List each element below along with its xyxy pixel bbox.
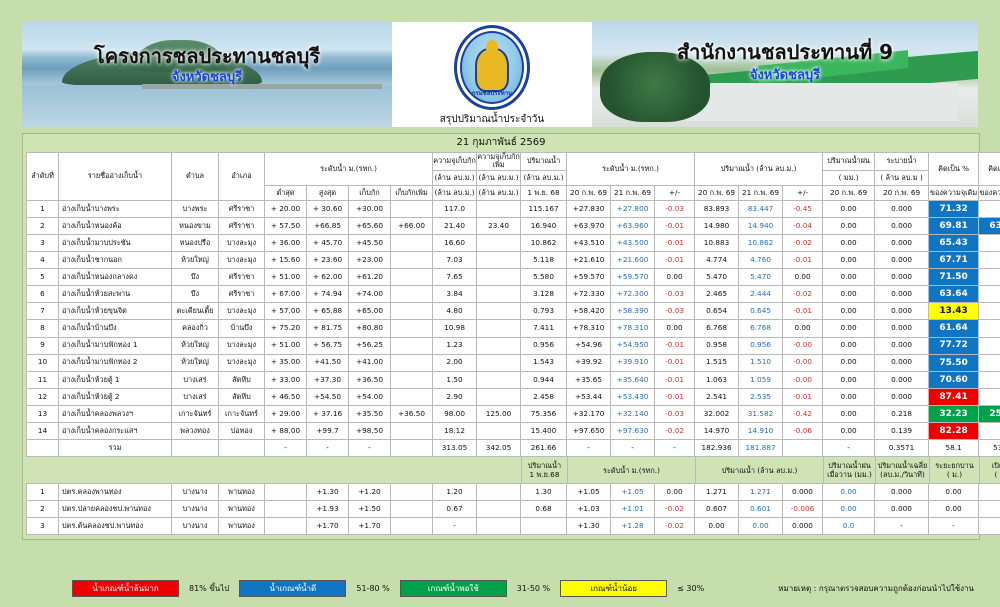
cell-rain: 0.00: [823, 234, 875, 251]
th-cap-extra-unit2: (ล้าน ลบ.ม.): [477, 185, 521, 200]
legend-chip-1: น้ำเกณฑ์น้ำดี: [239, 580, 346, 597]
table-row: 6อ่างเก็บน้ำห้วยสะพานบึงศรีราชา+ 67.00+ …: [27, 286, 1000, 303]
cell-lmin: + 33.00: [265, 371, 307, 388]
cell-tambon: บางนาง: [172, 518, 219, 535]
cell-capx: [477, 337, 521, 354]
cell-lmin: + 57.00: [265, 303, 307, 320]
cell-p2: [979, 337, 1000, 354]
cell-avg: 0.000: [875, 501, 929, 518]
cell-vdiff: -0.01: [783, 303, 823, 320]
cell-name: อ่างเก็บน้ำห้วยสะพาน: [59, 286, 172, 303]
cell-drain: 0.000: [875, 337, 929, 354]
cell-lmin: + 51.00: [265, 337, 307, 354]
gate-th-group-6: เปิดบาน( ชม.): [979, 457, 1000, 483]
th-drain-unit: ( ล้าน ลบ.ม ): [875, 170, 929, 185]
cell-capx: [477, 252, 521, 269]
total-rain: -: [823, 440, 875, 457]
th-level2-d1: 20 ก.พ. 69: [567, 185, 611, 200]
cell-tambon: คลองกิ่ว: [172, 320, 219, 337]
cell-l2: +35.640: [611, 371, 655, 388]
cell-lmin: + 51.00: [265, 269, 307, 286]
cell-v2: 1.271: [739, 484, 783, 501]
table-row: 13อ่างเก็บน้ำคลองพลวงฯเกาะจันทร์เกาะจันท…: [27, 405, 1000, 422]
cell-cap: 98.00: [433, 405, 477, 422]
cell-tambon: บางนาง: [172, 484, 219, 501]
th-vol-nov: ปริมาณน้ำ: [521, 153, 567, 171]
cell-lmax: +1.93: [307, 501, 349, 518]
cell-tambon: เกาะจันทร์: [172, 405, 219, 422]
th-level-store: เก็บกัก: [349, 185, 391, 200]
cell-no: 10: [27, 354, 59, 371]
cell-vdiff: 0.000: [783, 484, 823, 501]
report-date: 21 กุมภาพันธ์ 2569: [23, 134, 979, 152]
table-row: 9อ่างเก็บน้ำมาบฟักทอง 1ห้วยใหญ่บางละมุง+…: [27, 337, 1000, 354]
cell-drain: 0.000: [875, 320, 929, 337]
cell-vnov: 16.940: [521, 217, 567, 234]
cell-lmin: + 29.00: [265, 405, 307, 422]
table-total-row: รวม---313.05342.05261.66---182.936181.88…: [27, 440, 1000, 457]
gate-row: 1ปตร.คลองพานทองบางนางพานทอง+1.30+1.201.2…: [27, 484, 1000, 501]
cell-lmax: + 74.94: [307, 286, 349, 303]
legend-range-1: 51-80 %: [356, 584, 389, 593]
cell-vnov: [521, 518, 567, 535]
cell-capx: [477, 286, 521, 303]
cell-tambon: หนองขาม: [172, 217, 219, 234]
cell-name: อ่างเก็บน้ำคลองกระแสฯ: [59, 423, 172, 440]
cell-capx: [477, 269, 521, 286]
cell-vnov: 3.128: [521, 286, 567, 303]
cell-l2: +53.430: [611, 388, 655, 405]
cell-v1: 0.958: [695, 337, 739, 354]
gate-table-body: 1ปตร.คลองพานทองบางนางพานทอง+1.30+1.201.2…: [27, 484, 1000, 535]
cell-lextra: [391, 286, 433, 303]
cell-amphoe: ศรีราชา: [219, 217, 265, 234]
cell-lmin: + 57.50: [265, 217, 307, 234]
cell-name: ปตร.คลองพานทอง: [59, 484, 172, 501]
total-tambon: [172, 440, 219, 457]
cell-name: อ่างเก็บน้ำห้วยตู้ 1: [59, 371, 172, 388]
cell-l1: +72.330: [567, 286, 611, 303]
total-l1: -: [567, 440, 611, 457]
cell-v2: 1.059: [739, 371, 783, 388]
cell-ldiff: -0.02: [655, 518, 695, 535]
seal-label: กรมชลประทาน: [462, 88, 522, 98]
cell-open: -: [979, 518, 1000, 535]
cell-vdiff: 0.000: [783, 518, 823, 535]
cell-vnov: 1.543: [521, 354, 567, 371]
cell-cap: 7.03: [433, 252, 477, 269]
cell-vdiff: -0.01: [783, 388, 823, 405]
cell-vnov: 75.356: [521, 405, 567, 422]
cell-lstore: +61.20: [349, 269, 391, 286]
cell-l2: +97.630: [611, 423, 655, 440]
cell-p2: 63.85: [979, 217, 1000, 234]
cell-lmin: [265, 484, 307, 501]
cell-rain: 0.00: [823, 405, 875, 422]
cell-lstore: +74.00: [349, 286, 391, 303]
cell-ldiff: -0.01: [655, 371, 695, 388]
cell-amphoe: บางละมุง: [219, 337, 265, 354]
cell-p1: 67.71: [929, 252, 979, 269]
cell-name: อ่างเก็บน้ำหนองค้อ: [59, 217, 172, 234]
cell-lextra: [391, 518, 433, 535]
cell-l2: +43.500: [611, 234, 655, 251]
cell-p2: [979, 200, 1000, 217]
cell-p2: [979, 269, 1000, 286]
th-cap-extra-unit: (ล้าน ลบ.ม.): [477, 170, 521, 185]
th-vol2-group: ปริมาณน้ำ (ล้าน ลบ.ม.): [695, 153, 823, 186]
cell-p2: [979, 286, 1000, 303]
cell-lextra: [391, 423, 433, 440]
cell-lmin: + 36.00: [265, 234, 307, 251]
cell-l1: +35.65: [567, 371, 611, 388]
cell-lextra: [391, 252, 433, 269]
footer-note: หมายเหตุ : กรุณาตรวจสอบความถูกต้องก่อนนำ…: [778, 582, 978, 595]
gate-th-group-1: ระดับน้ำ ม.(รทก.): [567, 457, 696, 483]
cell-tambon: ห้วยใหญ่: [172, 252, 219, 269]
cell-l2: +78.310: [611, 320, 655, 337]
cell-v1: 1.271: [695, 484, 739, 501]
cell-no: 9: [27, 337, 59, 354]
cell-l2: +63.960: [611, 217, 655, 234]
cell-cap: 117.0: [433, 200, 477, 217]
cell-vnov: 0.68: [521, 501, 567, 518]
cell-l2: +32.140: [611, 405, 655, 422]
cell-no: 12: [27, 388, 59, 405]
cell-lextra: [391, 303, 433, 320]
cell-name: อ่างเก็บน้ำมาบฟักทอง 1: [59, 337, 172, 354]
table-row: 11อ่างเก็บน้ำห้วยตู้ 1บางเสร่สัตหีบ+ 33.…: [27, 371, 1000, 388]
cell-v1: 6.768: [695, 320, 739, 337]
cell-ldiff: -0.01: [655, 234, 695, 251]
cell-l2: +1.01: [611, 501, 655, 518]
cell-no: 2: [27, 501, 59, 518]
th-cap-store-unit2: (ล้าน ลบ.ม.): [433, 185, 477, 200]
cell-amphoe: ศรีราชา: [219, 286, 265, 303]
legend-range-3: ≤ 30%: [677, 584, 704, 593]
cell-lextra: [391, 320, 433, 337]
total-v2: 181.887: [739, 440, 783, 457]
cell-ldiff: -0.01: [655, 388, 695, 405]
total-vdiff: [783, 440, 823, 457]
cell-l1: +1.30: [567, 518, 611, 535]
th-no: ลำดับที่: [27, 153, 59, 201]
th-vol-nov-date: 1 พ.ย. 68: [521, 185, 567, 200]
cell-v1: 0.00: [695, 518, 739, 535]
cell-vdiff: -0.006: [783, 501, 823, 518]
cell-v1: 83.893: [695, 200, 739, 217]
cell-p2: [979, 303, 1000, 320]
total-name: รวม: [59, 440, 172, 457]
cell-v1: 1.515: [695, 354, 739, 371]
cell-lstore: +41.00: [349, 354, 391, 371]
cell-amphoe: บ้านบึง: [219, 320, 265, 337]
cell-ldiff: 0.00: [655, 269, 695, 286]
cell-vdiff: -0.02: [783, 234, 823, 251]
cell-lstore: +98.50: [349, 423, 391, 440]
banner-left-subtitle: จังหวัดชลบุรี: [22, 66, 392, 87]
cell-p2: [979, 371, 1000, 388]
cell-amphoe: บางละมุง: [219, 234, 265, 251]
th-rain: ปริมาณน้ำฝน: [823, 153, 875, 171]
table-row: 10อ่างเก็บน้ำมาบฟักทอง 2ห้วยใหญ่บางละมุง…: [27, 354, 1000, 371]
cell-lmin: + 75.20: [265, 320, 307, 337]
cell-ldiff: -0.01: [655, 337, 695, 354]
cell-capx: [477, 501, 521, 518]
cell-rain: 0.00: [823, 337, 875, 354]
cell-capx: 125.00: [477, 405, 521, 422]
cell-name: อ่างเก็บน้ำห้วยตู้ 2: [59, 388, 172, 405]
th-cap-extra: ความจุเก็บกักเพิ่ม: [477, 153, 521, 171]
cell-p1: 77.72: [929, 337, 979, 354]
cell-open: 0: [979, 501, 1000, 518]
cell-drain: 0.000: [875, 217, 929, 234]
gate-th-group-5: ระยะยกบาน( ม.): [929, 457, 980, 483]
cell-drain: 0.000: [875, 388, 929, 405]
cell-capx: [477, 200, 521, 217]
cell-v1: 1.063: [695, 371, 739, 388]
cell-no: 1: [27, 484, 59, 501]
cell-lmin: + 20.00: [265, 200, 307, 217]
cell-rain: 0.00: [823, 423, 875, 440]
cell-lextra: [391, 200, 433, 217]
cell-v2: 31.582: [739, 405, 783, 422]
cell-rain: 0.00: [823, 286, 875, 303]
cell-v1: 14.980: [695, 217, 739, 234]
cell-rain: 0.00: [823, 320, 875, 337]
total-l2: -: [611, 440, 655, 457]
cell-capx: [477, 234, 521, 251]
total-drain: 0.3571: [875, 440, 929, 457]
th-cap-store: ความจุเก็บกัก: [433, 153, 477, 171]
cell-amphoe: พานทอง: [219, 518, 265, 535]
cell-lmax: + 62.00: [307, 269, 349, 286]
th-level2-d2: 21 ก.พ. 69: [611, 185, 655, 200]
th-pct2-sub: ของความจุใหม่: [979, 185, 1000, 200]
cell-tambon: บางเสร่: [172, 371, 219, 388]
cell-lstore: +1.20: [349, 484, 391, 501]
cell-avg: 0.000: [875, 484, 929, 501]
cell-depth: 0.00: [929, 484, 979, 501]
th-vol2-diff: +/-: [783, 185, 823, 200]
cell-l1: +1.03: [567, 501, 611, 518]
cell-cap: 18.12: [433, 423, 477, 440]
total-p2: 53.18: [979, 440, 1000, 457]
cell-vnov: 7.411: [521, 320, 567, 337]
banner-right-photo: สำนักงานชลประทานที่ 9 จังหวัดชลบุรี: [592, 22, 978, 127]
cell-cap: 2.00: [433, 354, 477, 371]
cell-rain: 0.00: [823, 200, 875, 217]
th-level-group: ระดับน้ำ ม.(รทก.): [265, 153, 433, 186]
cell-tambon: บึง: [172, 286, 219, 303]
lake-water: [22, 85, 392, 127]
total-cap: 313.05: [433, 440, 477, 457]
table-row: 12อ่างเก็บน้ำห้วยตู้ 2บางเสร่สัตหีบ+ 46.…: [27, 388, 1000, 405]
th-level-store-extra: เก็บกักเพิ่ม: [391, 185, 433, 200]
cell-v2: 6.768: [739, 320, 783, 337]
cell-no: 3: [27, 234, 59, 251]
cell-name: อ่างเก็บน้ำมาบประชัน: [59, 234, 172, 251]
cell-drain: 0.000: [875, 269, 929, 286]
cell-depth: 0.00: [929, 501, 979, 518]
cell-l1: +53.44: [567, 388, 611, 405]
cell-lstore: +36.50: [349, 371, 391, 388]
cell-rain: 0.00: [823, 371, 875, 388]
cell-v1: 5.470: [695, 269, 739, 286]
cell-drain: 0.000: [875, 234, 929, 251]
cell-vdiff: 0.00: [783, 269, 823, 286]
cell-no: 6: [27, 286, 59, 303]
cell-rain: 0.00: [823, 388, 875, 405]
cell-l1: +59.570: [567, 269, 611, 286]
cell-rain: 0.00: [823, 217, 875, 234]
cell-v1: 0.607: [695, 501, 739, 518]
cell-v2: 83.447: [739, 200, 783, 217]
legend-chip-0: น้ำเกณฑ์น้ำล้นมาก: [72, 580, 179, 597]
cell-ldiff: -0.03: [655, 200, 695, 217]
cell-p1: 32.23: [929, 405, 979, 422]
cell-tambon: ตะเคียนเตี้ย: [172, 303, 219, 320]
cell-amphoe: บางละมุง: [219, 303, 265, 320]
cell-lmax: +1.70: [307, 518, 349, 535]
cell-vnov: 15.400: [521, 423, 567, 440]
cell-name: อ่างเก็บน้ำคลองพลวงฯ: [59, 405, 172, 422]
cell-ldiff: -0.03: [655, 286, 695, 303]
cell-drain: 0.000: [875, 286, 929, 303]
cell-v1: 32.002: [695, 405, 739, 422]
cell-p1: 13.43: [929, 303, 979, 320]
cell-vdiff: -0.00: [783, 354, 823, 371]
legend-chip-2: เกณฑ์น้ำพอใช้: [400, 580, 507, 597]
cell-v2: 0.956: [739, 337, 783, 354]
cell-p2: [979, 388, 1000, 405]
total-lmin: -: [265, 440, 307, 457]
cell-lstore: +56.25: [349, 337, 391, 354]
cell-lmin: + 35.00: [265, 354, 307, 371]
cell-depth: -: [929, 518, 979, 535]
cell-p2: [979, 234, 1000, 251]
cell-amphoe: สัตหีบ: [219, 371, 265, 388]
cell-no: 2: [27, 217, 59, 234]
legend-range-0: 81% ขึ้นไป: [189, 582, 229, 595]
th-pct1-sub: ของความจุเดิม: [929, 185, 979, 200]
cell-lextra: +36.50: [391, 405, 433, 422]
table-row: 5อ่างเก็บน้ำหนองกลางดงบึงศรีราชา+ 51.00+…: [27, 269, 1000, 286]
cell-name: อ่างเก็บน้ำหนองกลางดง: [59, 269, 172, 286]
cell-drain: 0.218: [875, 405, 929, 422]
total-lstore: -: [349, 440, 391, 457]
cell-lmax: + 30.60: [307, 200, 349, 217]
cell-vdiff: -0.01: [783, 252, 823, 269]
cell-v2: 2.444: [739, 286, 783, 303]
cell-rain: 0.00: [823, 484, 875, 501]
cell-lmax: +41.50: [307, 354, 349, 371]
th-drain: ระบายน้ำ: [875, 153, 929, 171]
table-header-row-1: ลำดับที่ รายชื่ออ่างเก็บน้ำ ตำบล อำเภอ ร…: [27, 153, 1000, 171]
cell-v2: 0.00: [739, 518, 783, 535]
cell-cap: 4.80: [433, 303, 477, 320]
cell-l1: +97.650: [567, 423, 611, 440]
cell-l2: +1.05: [611, 484, 655, 501]
cell-p1: 61.64: [929, 320, 979, 337]
total-capx: 342.05: [477, 440, 521, 457]
cell-name: ปตร.ต้นคลองชป.พานทอง: [59, 518, 172, 535]
th-level-min: ต่ำสุด: [265, 185, 307, 200]
cell-cap: 1.23: [433, 337, 477, 354]
cell-lmin: [265, 518, 307, 535]
cell-cap: 1.20: [433, 484, 477, 501]
cell-amphoe: ศรีราชา: [219, 200, 265, 217]
cell-lextra: [391, 234, 433, 251]
cell-no: 5: [27, 269, 59, 286]
cell-lmax: + 56.75: [307, 337, 349, 354]
reservoir-table-body: 1อ่างเก็บน้ำบางพระบางพระศรีราชา+ 20.00+ …: [27, 200, 1000, 456]
legend-range-2: 31-50 %: [517, 584, 550, 593]
th-cap-store-unit: (ล้าน ลบ.ม.): [433, 170, 477, 185]
cell-lstore: +23.00: [349, 252, 391, 269]
cell-p1: 69.81: [929, 217, 979, 234]
cell-lstore: +35.50: [349, 405, 391, 422]
total-ldiff: -: [655, 440, 695, 457]
cell-v2: 2.535: [739, 388, 783, 405]
cell-lextra: [391, 388, 433, 405]
cell-v2: 5.470: [739, 269, 783, 286]
cell-v2: 14.940: [739, 217, 783, 234]
cell-p1: 70.60: [929, 371, 979, 388]
table-row: 1อ่างเก็บน้ำบางพระบางพระศรีราชา+ 20.00+ …: [27, 200, 1000, 217]
cell-vnov: 0.956: [521, 337, 567, 354]
cell-name: ปตร.ปลายคลองชป.พานทอง: [59, 501, 172, 518]
cell-tambon: ห้วยใหญ่: [172, 354, 219, 371]
cell-drain: 0.139: [875, 423, 929, 440]
legend-bar: น้ำเกณฑ์น้ำล้นมาก81% ขึ้นไปน้ำเกณฑ์น้ำดี…: [22, 576, 978, 600]
cell-rain: 0.00: [823, 269, 875, 286]
th-drain-date: 20 ก.พ. 69: [875, 185, 929, 200]
cell-lmax: + 65.88: [307, 303, 349, 320]
header-banner: โครงการชลประทานชลบุรี จังหวัดชลบุรี กรมช…: [22, 22, 978, 127]
cell-no: 3: [27, 518, 59, 535]
cell-v2: 4.760: [739, 252, 783, 269]
cell-cap: 0.67: [433, 501, 477, 518]
cell-ldiff: -0.03: [655, 405, 695, 422]
cell-l2: +39.910: [611, 354, 655, 371]
cell-v1: 2.541: [695, 388, 739, 405]
cell-lmax: +54.50: [307, 388, 349, 405]
cell-ldiff: -0.02: [655, 423, 695, 440]
cell-no: 13: [27, 405, 59, 422]
cell-p2: [979, 320, 1000, 337]
cell-lmax: +1.30: [307, 484, 349, 501]
gate-th-group-2: ปริมาณน้ำ (ล้าน ลบ.ม.): [695, 457, 824, 483]
th-name: รายชื่ออ่างเก็บน้ำ: [59, 153, 172, 201]
cell-rain: 0.00: [823, 501, 875, 518]
cell-lextra: [391, 269, 433, 286]
cell-p1: 87.41: [929, 388, 979, 405]
banner-right-subtitle: จังหวัดชลบุรี: [592, 64, 978, 85]
cell-tambon: ห้วยใหญ่: [172, 337, 219, 354]
cell-lstore: +65.60: [349, 217, 391, 234]
table-row: 7อ่างเก็บน้ำห้วยขุนจิตตะเคียนเตี้ยบางละม…: [27, 303, 1000, 320]
cell-capx: [477, 518, 521, 535]
cell-lmin: + 88.00: [265, 423, 307, 440]
total-no: [27, 440, 59, 457]
office-building: [668, 83, 958, 121]
cell-l2: +1.28: [611, 518, 655, 535]
cell-lextra: [391, 501, 433, 518]
cell-lmin: + 15.60: [265, 252, 307, 269]
cell-l1: +1.05: [567, 484, 611, 501]
cell-name: อ่างเก็บน้ำห้วยขุนจิต: [59, 303, 172, 320]
